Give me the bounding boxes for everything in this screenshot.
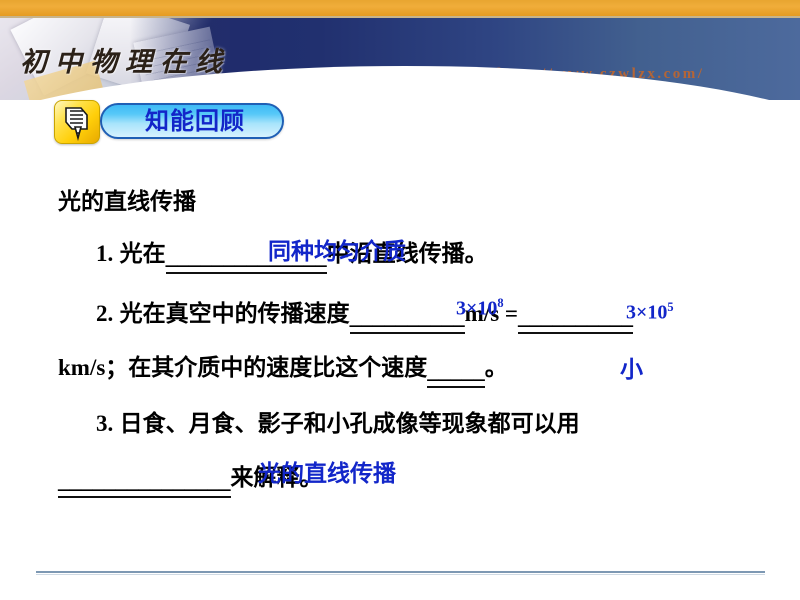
item-1-number: 1. bbox=[96, 241, 113, 266]
item-3-blank[interactable]: _______________ bbox=[58, 466, 231, 498]
item-3-answer: 光的直线传播 bbox=[258, 454, 396, 488]
item-3-number: 3. bbox=[96, 411, 113, 436]
question-item-2-continued: km/s；在其介质中的速度比这个速度_____。 bbox=[58, 352, 508, 388]
item-2-blank-1[interactable]: __________ bbox=[350, 302, 465, 334]
item-2-answer-3: 小 bbox=[620, 350, 643, 384]
item-1-answer: 同种均匀介质 bbox=[268, 232, 406, 266]
top-gold-bar bbox=[0, 0, 800, 16]
item-2-number: 2. bbox=[96, 301, 113, 326]
slide-canvas: 初中物理在线 http://www.czwlzx.com/ 知能回顾 光的直线传… bbox=[0, 0, 800, 600]
item-2-continued-text: km/s；在其介质中的速度比这个速度 bbox=[58, 355, 427, 380]
footer-divider bbox=[36, 571, 765, 573]
item-2-answer-2: 3×105 bbox=[626, 300, 674, 325]
question-item-3: 3. 日食、月食、影子和小孔成像等现象都可以用 bbox=[96, 408, 580, 439]
item-2-text-before: 光在真空中的传播速度 bbox=[120, 301, 350, 327]
footer-divider-shadow bbox=[36, 574, 765, 575]
question-item-2: 2. 光在真空中的传播速度__________m/s =__________ bbox=[96, 298, 633, 334]
item-2-blank-2[interactable]: __________ bbox=[518, 302, 633, 334]
item-2-continued-tail: 。 bbox=[485, 355, 508, 381]
badge-label: 知能回顾 bbox=[120, 107, 270, 135]
item-2-blank-3[interactable]: _____ bbox=[427, 356, 485, 388]
item-2-answer-1: 3×108 bbox=[456, 296, 504, 321]
item-1-text-before: 光在 bbox=[120, 241, 166, 267]
item-3-text: 日食、月食、影子和小孔成像等现象都可以用 bbox=[120, 411, 580, 437]
site-title: 初中物理在线 bbox=[20, 40, 230, 79]
slide-body: 光的直线传播 1. 光在______________中沿直线传播。 同种均匀介质… bbox=[0, 150, 800, 550]
book-pencil-icon bbox=[54, 100, 100, 144]
slide-heading: 光的直线传播 bbox=[58, 188, 196, 216]
